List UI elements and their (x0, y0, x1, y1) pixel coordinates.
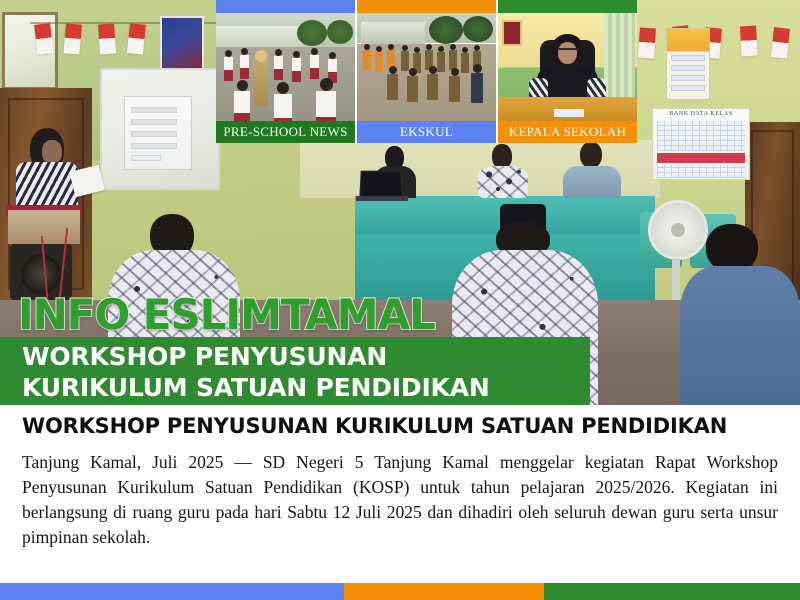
fan-stand (672, 258, 680, 300)
bottom-bar-segment-green (544, 583, 800, 600)
speaker-face (42, 140, 62, 164)
desk-papers (554, 109, 585, 117)
projected-slide (124, 96, 192, 170)
info-headline: INFO ESLIMTAMAL (18, 290, 435, 339)
thumbnail-label: KEPALA SEKOLAH (498, 121, 637, 143)
thumbnail-strip: PRE-SCHOOL NEWS (216, 0, 637, 143)
framed-picture (502, 20, 522, 46)
laptop-base (356, 196, 408, 201)
wall-chart-title: BANK DATA KELAS (653, 111, 749, 117)
thumbnail-kepala-sekolah[interactable]: KEPALA SEKOLAH (496, 0, 637, 143)
headline-band-text: WORKSHOP PENYUSUNAN KURIKULUM SATUAN PEN… (22, 341, 582, 403)
bottom-color-bar (0, 583, 800, 600)
bottom-bar-segment-blue (0, 583, 344, 600)
flag-bunting (638, 27, 656, 58)
wall-chart-grid (657, 121, 745, 151)
attendee-shirt (680, 266, 800, 416)
thumbnail-pre-school-news[interactable]: PRE-SCHOOL NEWS (216, 0, 355, 143)
podium (8, 210, 80, 244)
headline-band-line-1: WORKSHOP PENYUSUNAN (22, 341, 582, 372)
teacher-head (255, 50, 267, 62)
poster-page: BANK DATA KELAS (0, 0, 800, 600)
article-section: WORKSHOP PENYUSUNAN KURIKULUM SATUAN PEN… (0, 405, 800, 583)
flag-bunting (771, 27, 790, 59)
thumbnail-ekskul[interactable]: EKSKUL (355, 0, 496, 143)
thumbnail-label: PRE-SCHOOL NEWS (216, 121, 355, 143)
flag-bunting (740, 26, 758, 57)
laptop (359, 171, 402, 199)
panelist-head (580, 142, 602, 168)
article-title: WORKSHOP PENYUSUNAN KURIKULUM SATUAN PEN… (22, 413, 778, 440)
headline-band-line-2: KURIKULUM SATUAN PENDIDIKAN (22, 372, 582, 403)
panelist-body (563, 166, 621, 198)
bottom-bar-segment-orange (344, 583, 544, 600)
wall-chart-highlight (657, 153, 745, 163)
thumbnail-label: EKSKUL (357, 121, 496, 143)
flag-bunting (127, 23, 146, 55)
wall-chart-grid-lower (657, 165, 745, 178)
article-body: Tanjung Kamal, Juli 2025 — SD Negeri 5 T… (22, 450, 778, 550)
thumbnail-top-bar (498, 0, 637, 13)
thumbnail-top-bar (357, 0, 496, 13)
wall-poster-right (666, 28, 710, 100)
attendee-head (706, 224, 758, 272)
electric-fan (648, 200, 708, 260)
panelist-body (478, 166, 528, 198)
flag-bunting (63, 23, 82, 54)
flag-bunting (98, 23, 116, 54)
thumbnail-top-bar (216, 0, 355, 13)
teacher-figure (254, 58, 268, 106)
wall-chart: BANK DATA KELAS (652, 108, 750, 180)
